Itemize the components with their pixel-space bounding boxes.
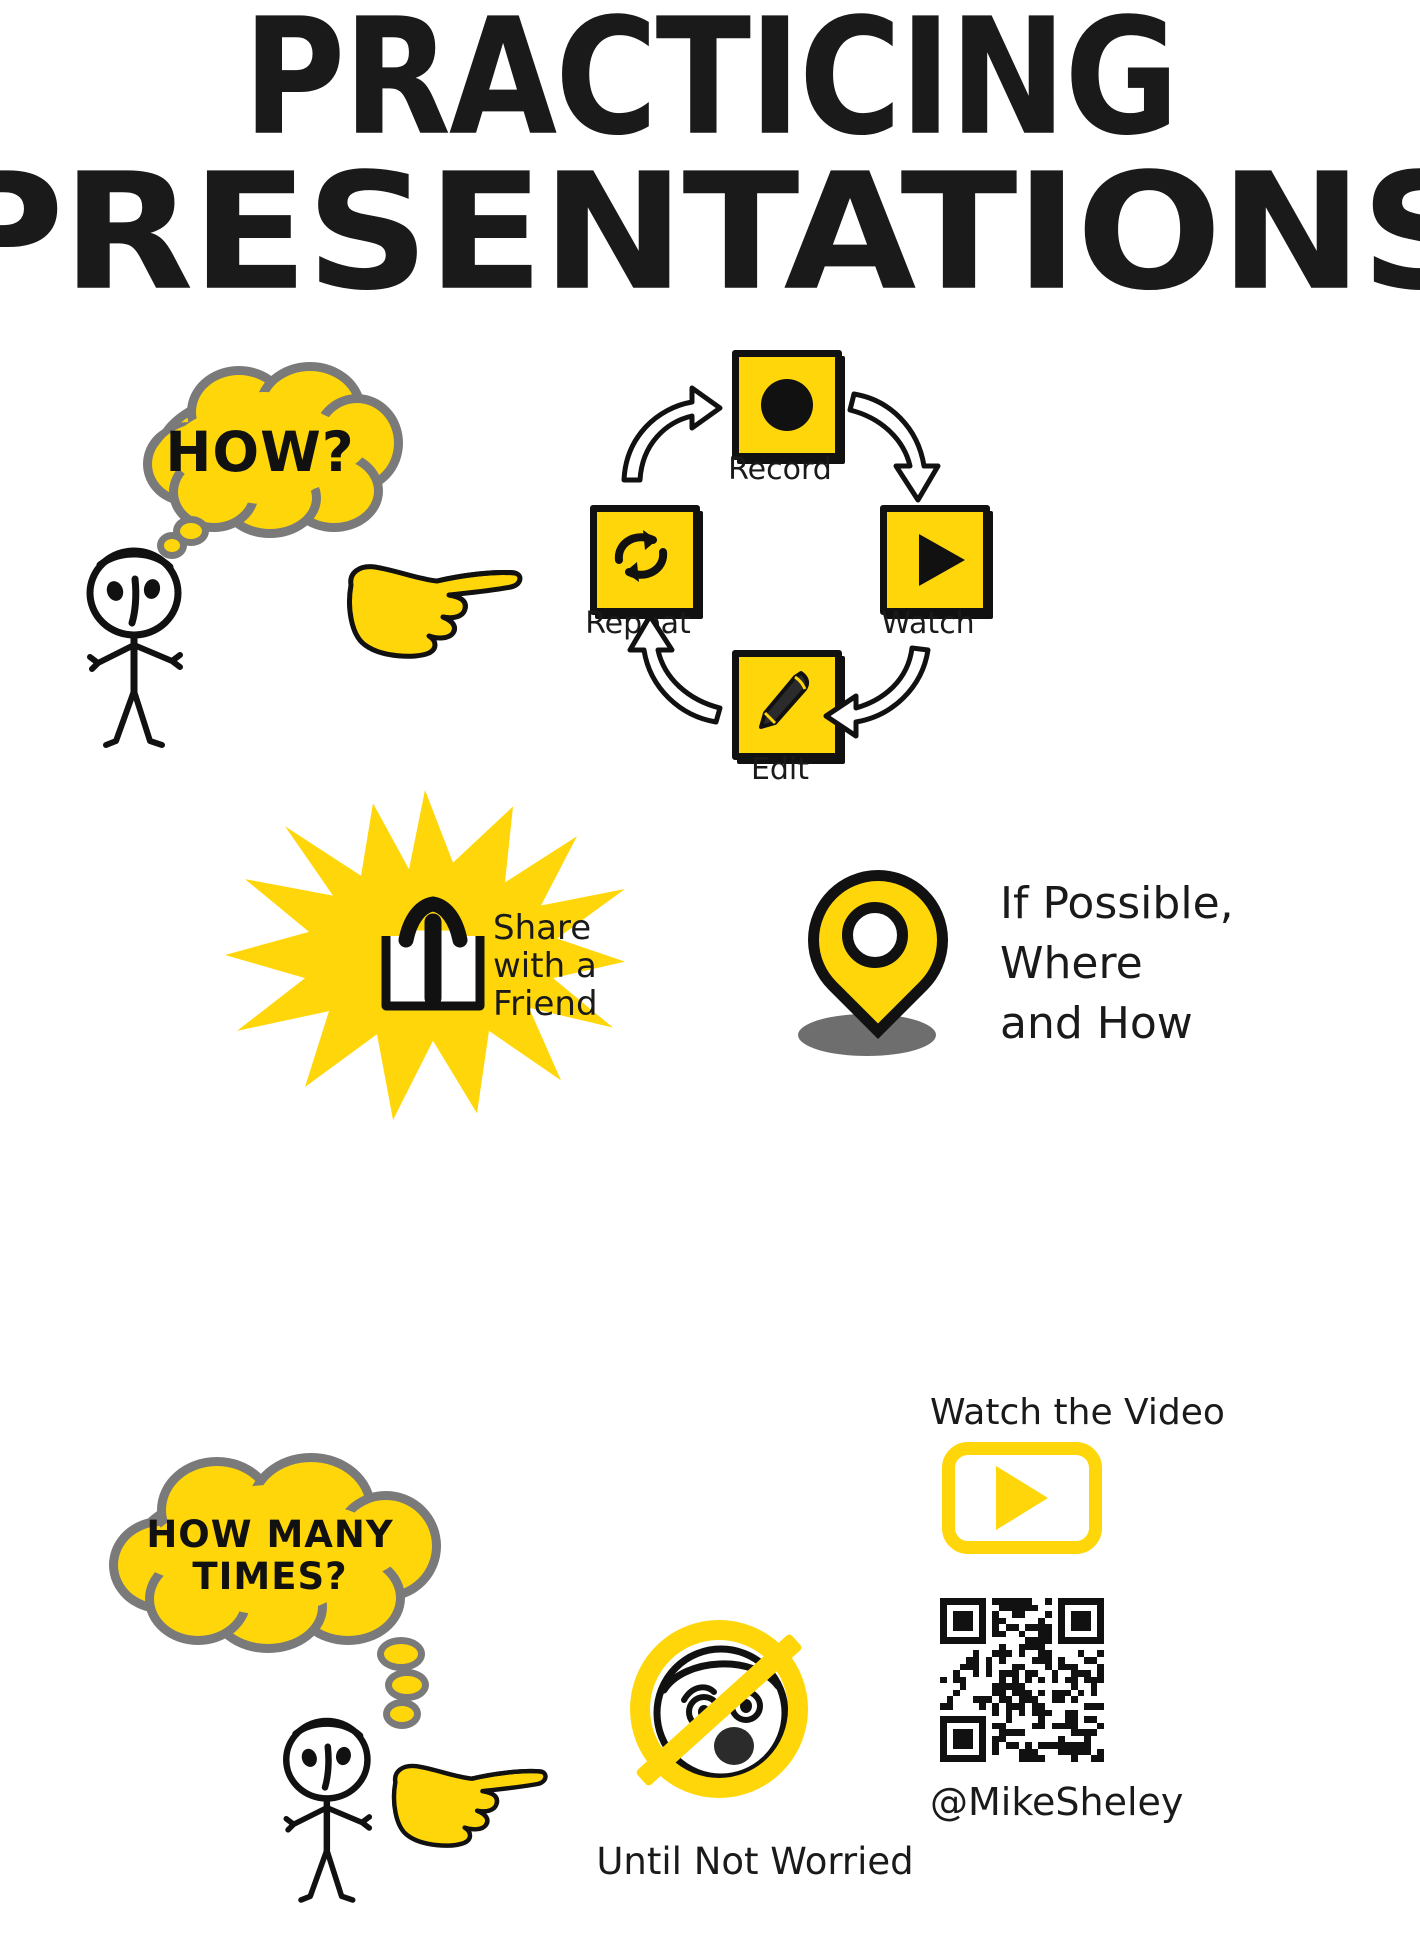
how-section: HOW? [80, 360, 600, 760]
share-section: Share with a Friend [225, 790, 645, 1130]
until-not-worried-section: Until Not Worried [580, 1600, 930, 1920]
play-button-icon [996, 1466, 1048, 1530]
where-section: If Possible, Where and How [770, 850, 1330, 1080]
pointing-hand-right-icon-2 [390, 1745, 550, 1855]
stick-figure-thinking-2 [277, 1715, 397, 1905]
how-many-section: HOW MANY TIMES? [95, 1455, 655, 1905]
how-many-thought-bubble: HOW MANY TIMES? [105, 1455, 435, 1645]
map-pin-hole [842, 902, 908, 968]
how-thought-bubble: HOW? [135, 370, 385, 530]
where-text-line-2: Where [1000, 938, 1143, 989]
how-many-bubble-line-1: HOW MANY [105, 1513, 435, 1556]
video-qr-section: Watch the Video @MikeSheley [930, 1380, 1330, 1920]
how-bubble-text: HOW? [135, 420, 385, 484]
qr-code-icon[interactable] [940, 1598, 1104, 1762]
title-line-2: PRESENTATIONS [0, 160, 1420, 308]
until-not-worried-caption: Until Not Worried [560, 1840, 950, 1883]
share-text-line-3: Friend [493, 984, 598, 1024]
share-text-line-2: with a [493, 946, 597, 986]
practice-cycle-diagram: Record Watch Edit Repeat [580, 350, 1020, 810]
share-text-line-1: Share [493, 908, 591, 948]
author-handle: @MikeSheley [930, 1780, 1270, 1824]
cycle-arrows [580, 350, 1020, 810]
stick-figure-thinking [80, 545, 210, 750]
watch-the-video-heading: Watch the Video [930, 1392, 1330, 1433]
poster-title: PRACTICING PRESENTATIONS [0, 18, 1420, 295]
how-many-bubble-line-2: TIMES? [105, 1555, 435, 1598]
where-text-line-3: and How [1000, 998, 1193, 1049]
title-line-1: PRACTICING [0, 5, 1420, 153]
where-text-line-1: If Possible, [1000, 878, 1234, 929]
pointing-hand-right-icon [345, 545, 525, 665]
share-upload-icon [380, 900, 486, 1012]
